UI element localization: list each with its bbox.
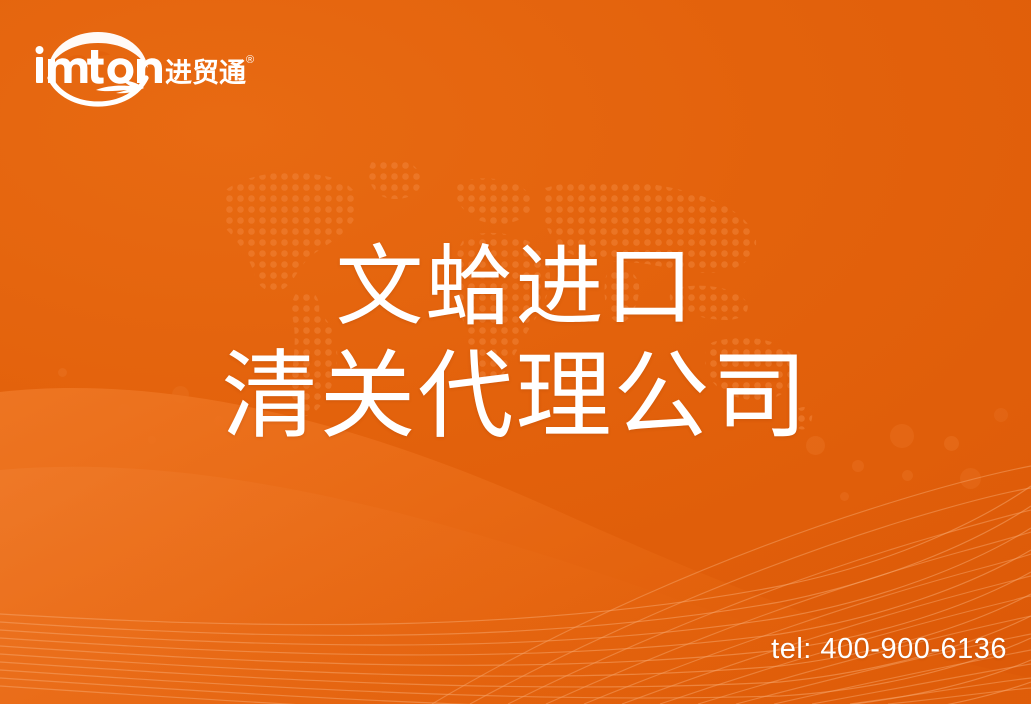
telephone-label: tel: 400-900-6136 (771, 633, 1007, 666)
poster-canvas: 进贸通 ® 文蛤进口 清关代理公司 tel: 400-900-6136 (0, 0, 1031, 704)
logo-wordmark-chinese: 进贸通 (165, 58, 246, 88)
title-line-2: 清关代理公司 (0, 343, 1031, 451)
trademark-symbol: ® (246, 54, 254, 66)
page-title: 文蛤进口 清关代理公司 (0, 238, 1031, 450)
brand-logo[interactable]: 进贸通 ® (34, 28, 284, 108)
title-line-1: 文蛤进口 (0, 238, 1031, 337)
